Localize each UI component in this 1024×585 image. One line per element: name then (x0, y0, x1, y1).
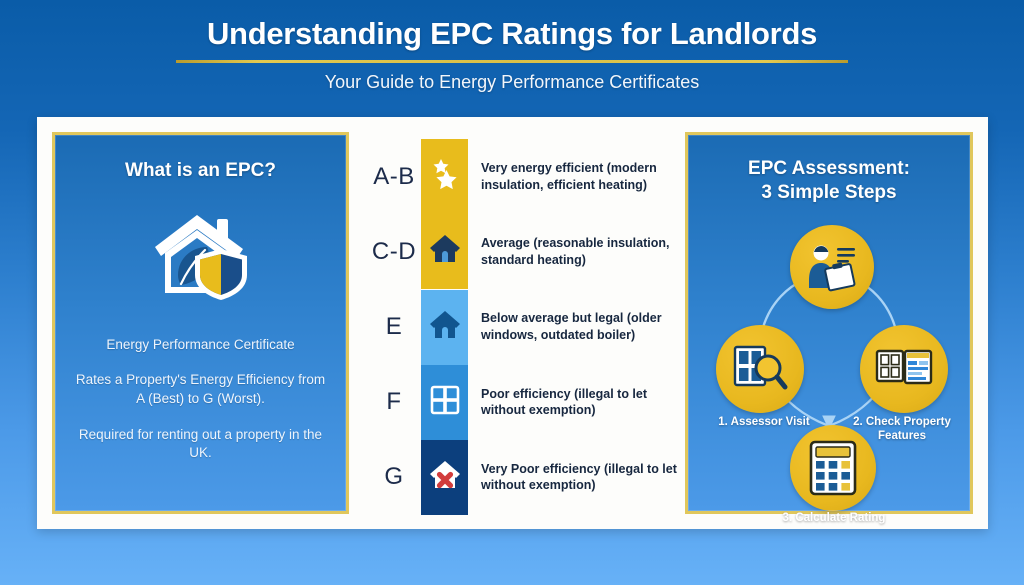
epc-requirement-line: Required for renting out a property in t… (76, 426, 326, 463)
page-subtitle: Your Guide to Energy Performance Certifi… (0, 72, 1024, 93)
left-panel-title: What is an EPC? (125, 159, 276, 183)
window-icon (430, 385, 460, 420)
assessor-clipboard-icon (790, 225, 874, 309)
content-card: What is an EPC? Energy Performance Certi… (37, 117, 988, 529)
epc-assessment-panel: EPC Assessment: 3 Simple Steps (685, 132, 973, 514)
rating-description: Very Poor efficiency (illegal to let wit… (481, 461, 679, 494)
header: Understanding EPC Ratings for Landlords … (0, 0, 1024, 93)
rating-row: G Very Poor efficiency (illegal to let w… (367, 440, 679, 515)
step-label-1: 1. Assessor Visit (708, 415, 820, 430)
rating-row: E Below average but legal (older windows… (367, 289, 679, 364)
rating-description: Very energy efficient (modern insulation… (481, 160, 679, 193)
watermark (330, 540, 690, 574)
ratings-scale-list: A-B Very energy efficient (modern insula… (349, 117, 685, 529)
rating-grade: C-D (367, 238, 421, 266)
house-icon (429, 310, 461, 345)
rating-description: Poor efficiency (illegal to let without … (481, 386, 679, 419)
rating-row: C-D Average (reasonable insulation, stan… (367, 214, 679, 289)
rating-color-swatch (421, 290, 468, 365)
rating-description: Average (reasonable insulation, standard… (481, 235, 679, 268)
house-leaf-shield-icon (151, 209, 251, 306)
rating-color-swatch (421, 139, 468, 214)
rating-grade: G (367, 463, 421, 491)
page-title: Understanding EPC Ratings for Landlords (0, 16, 1024, 52)
rating-color-swatch (421, 440, 468, 515)
window-report-icon (860, 325, 948, 413)
rating-description: Below average but legal (older windows, … (481, 310, 679, 343)
house-icon (429, 234, 461, 269)
step-label-3: 3. Calculate Rating (764, 511, 904, 526)
right-panel-title-line1: EPC Assessment: (702, 157, 956, 181)
step-label-2: 2. Check Property Features (844, 415, 960, 445)
steps-diagram: 1. Assessor Visit 2. Check Property Feat… (702, 219, 956, 481)
title-underline-divider (176, 60, 848, 63)
two-stars-icon (428, 157, 462, 196)
what-is-epc-panel: What is an EPC? Energy Performance Certi… (52, 132, 349, 514)
rating-grade: F (367, 388, 421, 416)
rating-color-swatch (421, 365, 468, 440)
window-magnifier-icon (716, 325, 804, 413)
epc-definition-line: Energy Performance Certificate (106, 336, 294, 355)
rating-color-swatch (421, 214, 468, 289)
house-cross-icon (429, 460, 461, 495)
rating-row: F Poor efficiency (illegal to let withou… (367, 365, 679, 440)
rating-row: A-B Very energy efficient (modern insula… (367, 139, 679, 214)
rating-grade: E (367, 313, 421, 341)
epc-range-line: Rates a Property's Energy Efficiency fro… (76, 371, 326, 408)
rating-grade: A-B (367, 163, 421, 191)
right-panel-title-line2: 3 Simple Steps (702, 181, 956, 205)
